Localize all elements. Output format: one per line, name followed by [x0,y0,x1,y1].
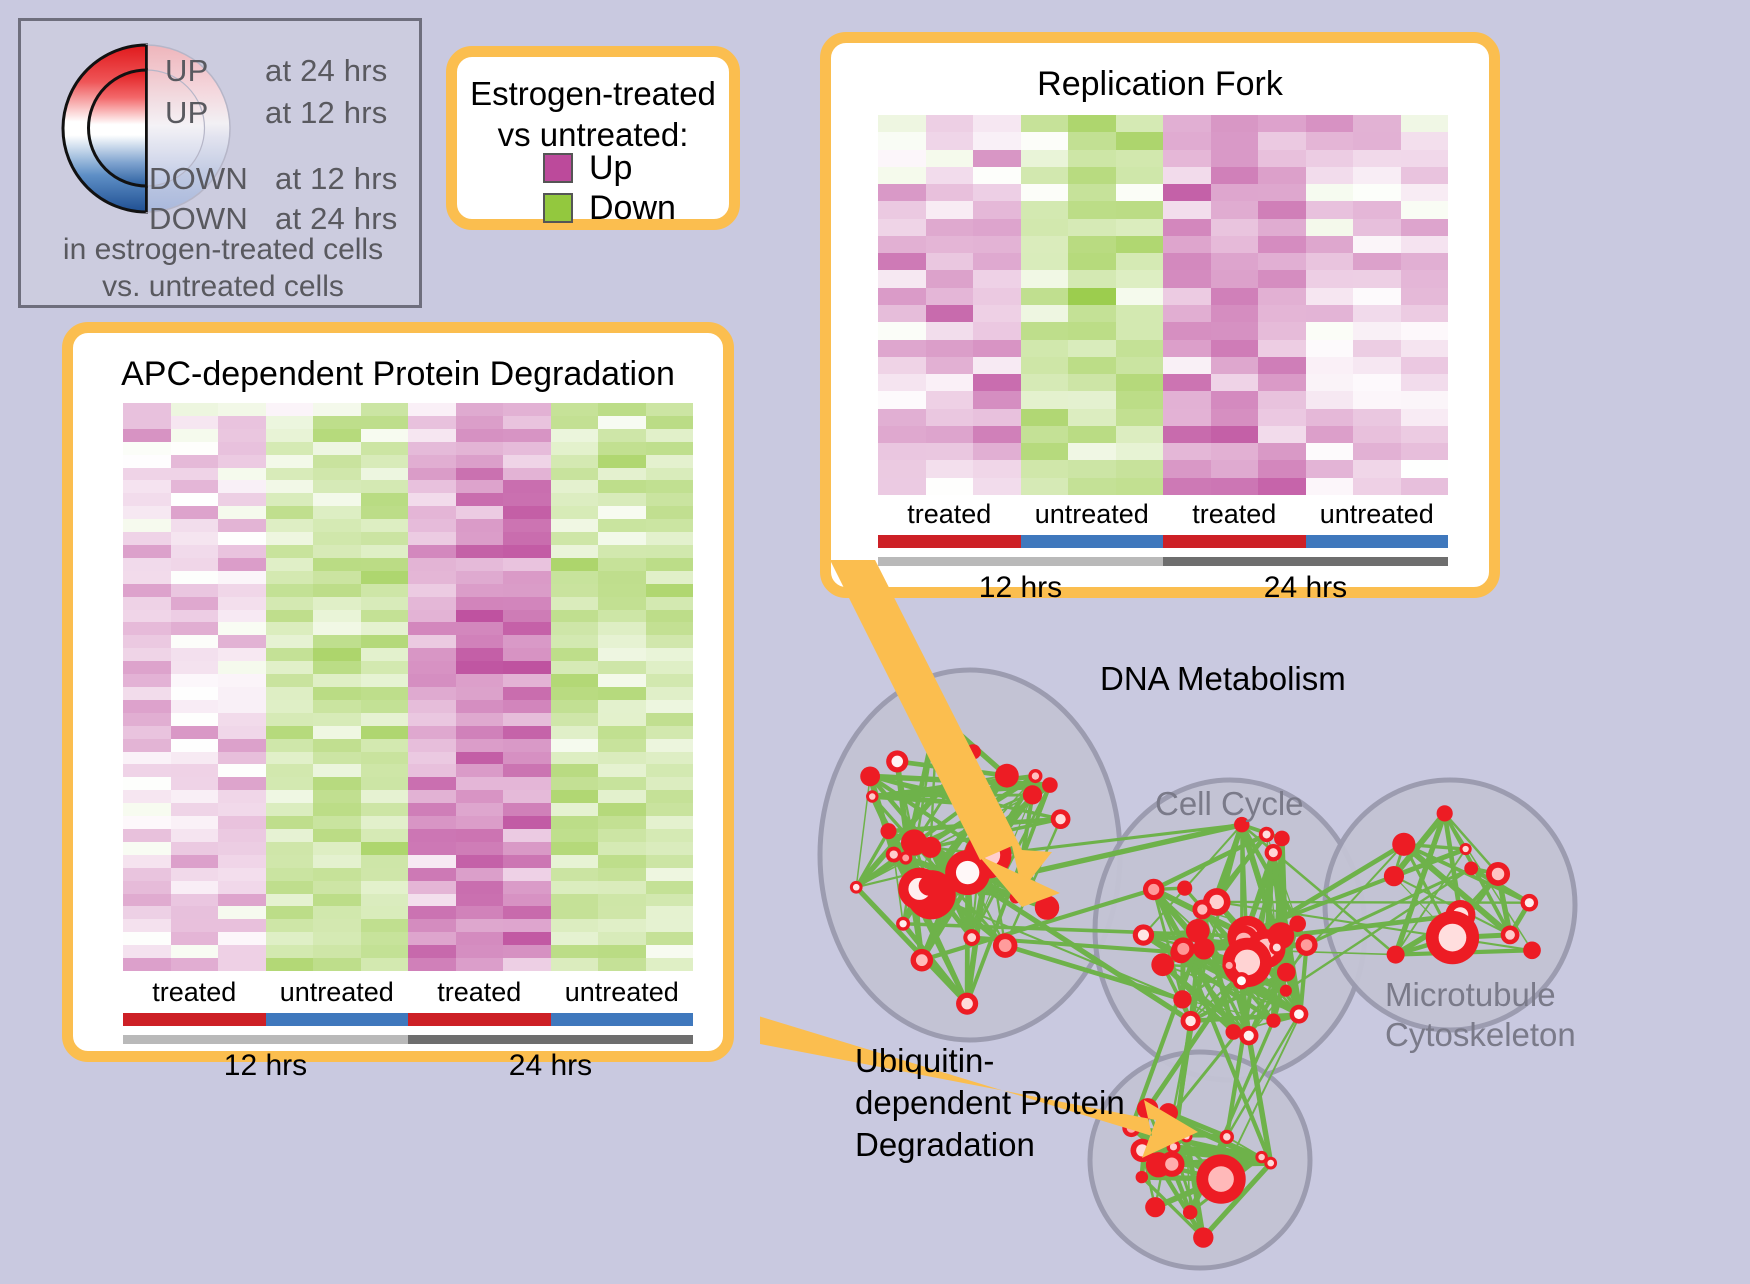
network-node[interactable] [1136,1171,1148,1183]
color-scale-legend: UP at 24 hrs UP at 12 hrs DOWN at 12 hrs… [18,18,422,308]
network-node-inner [1505,930,1515,940]
heatmap-cell [551,932,599,945]
heatmap-cell [408,868,456,881]
network-node[interactable] [963,929,980,946]
heatmap-cell [1021,391,1069,408]
cond-bar-untreated-24 [1306,535,1449,548]
network-node-inner [1267,1160,1274,1167]
heatmap-cell [313,687,361,700]
time-bar-24hrs [1163,557,1448,566]
network-node[interactable] [1183,1205,1197,1219]
heatmap-cell [1211,219,1259,236]
heatmap-cell [408,622,456,635]
heatmap-cell [123,597,171,610]
network-node-inner [1165,1157,1178,1170]
network-node-inner [1492,868,1504,880]
heatmap-cell [878,253,926,270]
legend-time-up-24: at 24 hrs [265,53,387,89]
heatmap-cell [313,480,361,493]
heatmap-cell [456,468,504,481]
heatmap-cell [1353,201,1401,218]
heatmap-cell [361,442,409,455]
heatmap-cell [1116,391,1164,408]
network-node[interactable] [1265,844,1282,861]
network-node[interactable] [920,837,941,858]
heatmap-cell [503,506,551,519]
time-label-12hrs: 12 hrs [123,1049,408,1083]
heatmap-cell [598,945,646,958]
network-node[interactable] [1192,900,1212,920]
heatmap-cell [361,945,409,958]
heatmap-cell [598,661,646,674]
heatmap-cell [456,842,504,855]
heatmap-cell [1401,201,1449,218]
heatmap-cell [456,829,504,842]
heatmap-cell [1306,391,1354,408]
heatmap-cell [1306,460,1354,477]
network-node[interactable] [1486,862,1510,886]
heatmap-cell [266,958,314,971]
network-node[interactable] [956,993,978,1015]
cond-bar-untreated-12 [266,1013,409,1026]
heatmap-cell [551,571,599,584]
heatmap-cell [598,919,646,932]
network-node[interactable] [1023,785,1042,804]
heatmap-cell [1163,374,1211,391]
heatmap-cell [218,739,266,752]
heatmap-cell [1163,391,1211,408]
heatmap-cell [123,700,171,713]
heatmap-cell [361,558,409,571]
network-node[interactable] [1035,895,1059,919]
heatmap-cell [503,519,551,532]
heatmap-cell [646,610,694,623]
network-node[interactable] [1181,1130,1193,1142]
heatmap-cell [1116,305,1164,322]
network-node[interactable] [866,790,878,802]
heatmap-cell [926,322,974,339]
heatmap-cell [313,842,361,855]
heatmap-cell [598,519,646,532]
heatmap-cell [171,687,219,700]
network-node[interactable] [1233,972,1250,989]
heatmap-cell [361,480,409,493]
heatmap-cell [171,932,219,945]
heatmap-cell [878,201,926,218]
heatmap-cell [408,919,456,932]
heatmap-cell [266,403,314,416]
apc-time-bar [123,1035,693,1044]
network-node[interactable] [1051,809,1071,829]
heatmap-cell [218,790,266,803]
network-node[interactable] [1523,941,1541,959]
network-node[interactable] [1501,926,1520,945]
heatmap-cell [361,468,409,481]
heatmap-cell [456,777,504,790]
heatmap-cell [313,906,361,919]
heatmap-cell [1163,201,1211,218]
heatmap-cell [598,429,646,442]
heatmap-cell [1163,253,1211,270]
heatmap-cell [171,958,219,971]
heatmap-cell [1211,253,1259,270]
heatmap-cell [408,752,456,765]
heatmap-cell [598,622,646,635]
heatmap-cell [1401,167,1449,184]
heatmap-cell [598,790,646,803]
heatmap-cell [503,584,551,597]
network-node[interactable] [1290,1005,1309,1024]
heatmap-cell [1021,305,1069,322]
heatmap-cell [598,674,646,687]
legend-item-up: Up [543,151,632,185]
heatmap-cell [266,881,314,894]
heatmap-cell [503,403,551,416]
network-node[interactable] [896,917,910,931]
heatmap-cell [646,752,694,765]
network-node[interactable] [1181,1011,1201,1031]
heatmap-cell [1163,478,1211,495]
heatmap-cell [123,403,171,416]
heatmap-cell [1211,357,1259,374]
heatmap-cell [598,713,646,726]
heatmap-cell [1068,391,1116,408]
heatmap-cell [266,674,314,687]
heatmap-cell [551,764,599,777]
heatmap-cell [1163,288,1211,305]
heatmap-cell [408,493,456,506]
network-node[interactable] [1167,1140,1181,1154]
heatmap-cell [361,764,409,777]
heatmap-cell [266,468,314,481]
network-node[interactable] [1042,777,1058,793]
heatmap-cell [1401,305,1449,322]
network-node[interactable] [1280,985,1292,997]
heatmap-cell [973,253,1021,270]
network-node[interactable] [966,744,981,759]
heatmap-cell [1068,167,1116,184]
heatmap-cell [1163,460,1211,477]
heatmap-cell [646,790,694,803]
heatmap-cell [1258,391,1306,408]
heatmap-cell [123,571,171,584]
heatmap-cell [503,532,551,545]
heatmap-cell [218,661,266,674]
heatmap-cell [123,635,171,648]
heatmap-cell [171,455,219,468]
network-node[interactable] [1173,990,1191,1008]
network-node[interactable] [1222,959,1236,973]
heatmap-cell [503,945,551,958]
heatmap-cell [1258,426,1306,443]
heatmap-cell [1068,288,1116,305]
network-node[interactable] [1274,831,1290,847]
heatmap-cell [503,906,551,919]
network-node[interactable] [1521,894,1539,912]
heatmap-cell [878,409,926,426]
heatmap-cell [551,416,599,429]
group-label-untreated-24: untreated [551,977,694,1008]
heatmap-cell [1353,115,1401,132]
network-node[interactable] [1392,833,1415,856]
network-node[interactable] [1172,937,1195,960]
heatmap-cell [503,764,551,777]
group-label-untreated-12: untreated [1021,499,1164,530]
network-node[interactable] [1239,1026,1258,1045]
heatmap-cell [408,519,456,532]
heatmap-cell [878,167,926,184]
heatmap-cell [218,622,266,635]
heatmap-cell [1116,184,1164,201]
network-node[interactable] [1137,1098,1158,1119]
heatmap-cell [551,906,599,919]
heatmap-cell [1306,288,1354,305]
heatmap-cell [218,493,266,506]
heatmap-cell [313,881,361,894]
heatmap-cell [1353,236,1401,253]
network-node-inner [916,954,928,966]
network-node-inner [1136,1144,1148,1156]
heatmap-cell [646,945,694,958]
heatmap-cell [551,442,599,455]
heatmap-cell [266,726,314,739]
heatmap-cell [503,648,551,661]
heatmap-cell [878,340,926,357]
heatmap-cell [1353,132,1401,149]
time-bar-12hrs [878,557,1163,566]
heatmap-cell [361,584,409,597]
heatmap-cell [313,493,361,506]
network-node[interactable] [1437,805,1453,821]
heatmap-cell [171,545,219,558]
heatmap-cell [218,752,266,765]
network-node[interactable] [1264,1157,1277,1170]
heatmap-cell [1353,270,1401,287]
heatmap-cell [1116,150,1164,167]
network-node[interactable] [1220,1130,1234,1144]
heatmap-cell [551,958,599,971]
heatmap-cell [266,790,314,803]
network-node[interactable] [1384,866,1404,886]
heatmap-cell [598,597,646,610]
network-node[interactable] [1277,963,1296,982]
heatmap-cell [456,700,504,713]
heatmap-cell [1258,357,1306,374]
cluster-label-dna-metabolism: DNA Metabolism [1100,660,1346,698]
heatmap-cell [361,597,409,610]
heatmap-cell [123,622,171,635]
heatmap-cell [361,545,409,558]
heatmap-cell [646,455,694,468]
heatmap-cell [218,842,266,855]
network-node[interactable] [1151,953,1174,976]
heatmap-cell [1021,150,1069,167]
heatmap-cell [408,739,456,752]
updown-title-line1: Estrogen-treated [457,73,729,114]
heatmap-cell [646,506,694,519]
heatmap-cell [973,150,1021,167]
heatmap-cell [503,919,551,932]
heatmap-cell [1116,374,1164,391]
heatmap-cell [598,777,646,790]
heatmap-cell [171,816,219,829]
heatmap-cell [456,739,504,752]
heatmap-cell [878,374,926,391]
network-node[interactable] [1159,1103,1178,1122]
heatmap-cell [313,442,361,455]
network-node[interactable] [993,933,1018,958]
network-node-inner [1244,1031,1254,1041]
network-node[interactable] [1143,879,1165,901]
network-node[interactable] [1193,1227,1213,1247]
heatmap-cell [503,610,551,623]
heatmap-cell [313,571,361,584]
legend-item-up-label: Up [589,151,632,185]
heatmap-cell [218,881,266,894]
network-node[interactable] [880,823,896,839]
network-node[interactable] [1259,827,1274,842]
heatmap-cell [1068,340,1116,357]
heatmap-cell [926,460,974,477]
heatmap-cell [456,584,504,597]
heatmap-cell [171,532,219,545]
heatmap-cell [1401,357,1449,374]
heatmap-cell [598,816,646,829]
heatmap-cell [1116,340,1164,357]
network-node[interactable] [1426,911,1479,964]
heatmap-cell [503,493,551,506]
heatmap-cell [503,829,551,842]
heatmap-cell [551,468,599,481]
network-node[interactable] [1289,915,1306,932]
network-node[interactable] [911,949,934,972]
network-node[interactable] [1460,843,1472,855]
network-node[interactable] [995,764,1019,788]
heatmap-cell [1163,167,1211,184]
network-node[interactable] [886,750,908,772]
heatmap-cell [123,455,171,468]
heatmap-cell [361,506,409,519]
heatmap-cell [218,558,266,571]
heatmap-cell [598,558,646,571]
heatmap-cell [878,322,926,339]
heatmap-cell [551,661,599,674]
heatmap-cell [218,635,266,648]
heatmap-cell [361,403,409,416]
heatmap-cell [313,958,361,971]
heatmap-cell [1306,409,1354,426]
heatmap-cell [266,752,314,765]
network-node[interactable] [850,881,863,894]
heatmap-cell [1116,219,1164,236]
heatmap-cell [1068,460,1116,477]
heatmap-cell [266,493,314,506]
heatmap-cell [1068,357,1116,374]
heatmap-cell [551,493,599,506]
heatmap-cell [551,829,599,842]
heatmap-cell [1306,219,1354,236]
heatmap-cell [503,416,551,429]
heatmap-cell [218,610,266,623]
heatmap-cell [408,661,456,674]
heatmap-cell [878,236,926,253]
heatmap-cell [1306,478,1354,495]
heatmap-cell [408,468,456,481]
heatmap-cell [503,545,551,558]
heatmap-cell [551,429,599,442]
network-node[interactable] [1295,934,1317,956]
heatmap-cell [1163,236,1211,253]
heatmap-cell [1258,443,1306,460]
heatmap-cell [218,468,266,481]
heatmap-cell [123,829,171,842]
network-node-inner [1138,929,1149,940]
heatmap-cell [456,532,504,545]
heatmap-cell [1306,322,1354,339]
apc-degradation-heatmap [123,403,693,971]
heatmap-cell [1116,201,1164,218]
heatmap-cell [456,506,504,519]
heatmap-cell [408,829,456,842]
heatmap-cell [123,752,171,765]
heatmap-cell [313,584,361,597]
cluster-label-microtubule-cytoskeleton: Microtubule Cytoskeleton [1385,975,1585,1055]
heatmap-cell [1068,426,1116,443]
heatmap-cell [973,357,1021,374]
heatmap-cell [361,790,409,803]
heatmap-cell [926,305,974,322]
network-node[interactable] [860,766,880,786]
heatmap-cell [646,545,694,558]
network-node[interactable] [1269,940,1284,955]
heatmap-cell [456,622,504,635]
heatmap-cell [973,391,1021,408]
network-node[interactable] [1159,1151,1184,1176]
heatmap-cell [1401,391,1449,408]
network-node[interactable] [930,707,945,722]
network-node-inner [891,756,903,768]
network-node[interactable] [1028,769,1042,783]
network-node[interactable] [1177,881,1192,896]
group-label-treated-12: treated [123,977,266,1008]
heatmap-cell [878,150,926,167]
heatmap-cell [973,219,1021,236]
network-node[interactable] [1464,861,1478,875]
network-node[interactable] [1387,946,1405,964]
network-node[interactable] [1010,892,1022,904]
heatmap-cell [1211,340,1259,357]
network-node[interactable] [919,876,939,896]
heatmap-cell [266,480,314,493]
network-node[interactable] [1145,1197,1165,1217]
heatmap-cell [1116,115,1164,132]
network-node[interactable] [1133,924,1154,945]
network-node[interactable] [1266,1014,1280,1028]
network-node[interactable] [1225,1024,1241,1040]
network-node[interactable] [983,797,998,812]
cond-bar-treated-12 [123,1013,266,1026]
heatmap-cell [171,648,219,661]
network-node[interactable] [1196,1154,1245,1203]
heatmap-cell [1068,270,1116,287]
heatmap-cell [456,919,504,932]
heatmap-cell [361,881,409,894]
heatmap-cell [1116,357,1164,374]
network-node-inner [1234,950,1260,976]
network-node[interactable] [886,847,902,863]
heatmap-cell [1401,340,1449,357]
heatmap-cell [313,739,361,752]
